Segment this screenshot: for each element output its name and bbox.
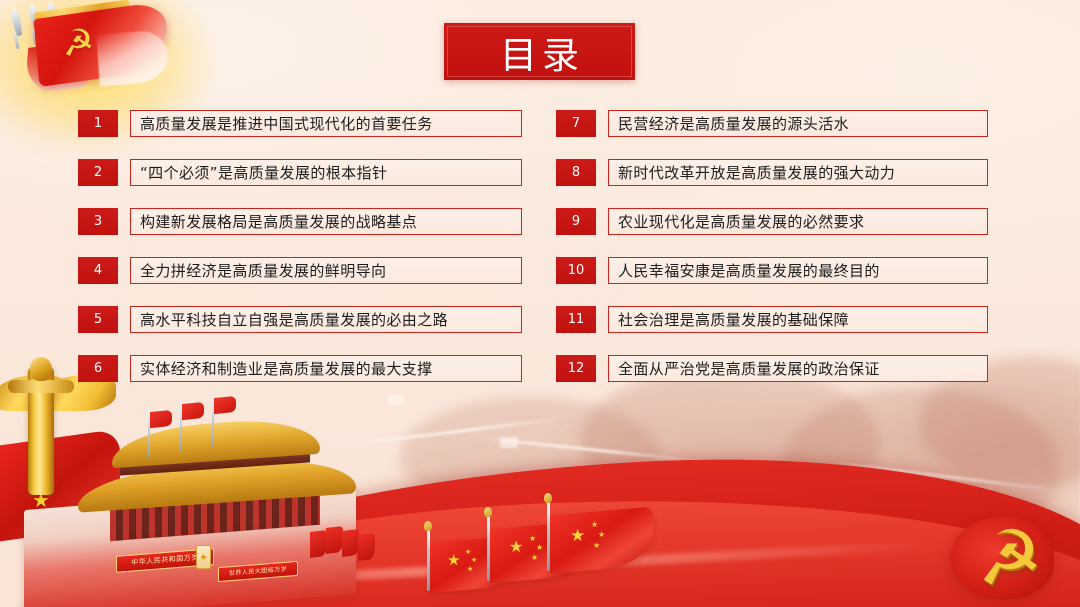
toc-left-column: 1 高质量发展是推进中国式现代化的首要任务 2 “四个必须”是高质量发展的根本指… — [78, 110, 548, 404]
toc-item-12[interactable]: 12 全面从严治党是高质量发展的政治保证 — [556, 355, 1026, 382]
toc-number-badge: 3 — [78, 208, 118, 235]
table-of-contents: 1 高质量发展是推进中国式现代化的首要任务 2 “四个必须”是高质量发展的根本指… — [0, 110, 1080, 410]
toc-item-9[interactable]: 9 农业现代化是高质量发展的必然要求 — [556, 208, 1026, 235]
toc-item-label: 高质量发展是推进中国式现代化的首要任务 — [140, 113, 433, 134]
toc-item-5[interactable]: 5 高水平科技自立自强是高质量发展的必由之路 — [78, 306, 548, 333]
toc-item-10[interactable]: 10 人民幸福安康是高质量发展的最终目的 — [556, 257, 1026, 284]
toc-item-label: 全面从严治党是高质量发展的政治保证 — [618, 358, 880, 379]
toc-item-box[interactable]: “四个必须”是高质量发展的根本指针 — [130, 159, 522, 186]
toc-item-2[interactable]: 2 “四个必须”是高质量发展的根本指针 — [78, 159, 548, 186]
toc-number-badge: 2 — [78, 159, 118, 186]
toc-item-box[interactable]: 社会治理是高质量发展的基础保障 — [608, 306, 988, 333]
toc-item-box[interactable]: 高质量发展是推进中国式现代化的首要任务 — [130, 110, 522, 137]
toc-item-1[interactable]: 1 高质量发展是推进中国式现代化的首要任务 — [78, 110, 548, 137]
toc-item-8[interactable]: 8 新时代改革开放是高质量发展的强大动力 — [556, 159, 1026, 186]
page-title: 目录 — [495, 25, 584, 79]
toc-item-11[interactable]: 11 社会治理是高质量发展的基础保障 — [556, 306, 1026, 333]
hammer-sickle-emblem-icon: ☭ — [56, 22, 100, 64]
party-flag-icon: ☭ — [6, 2, 181, 102]
toc-item-label: 新时代改革开放是高质量发展的强大动力 — [618, 162, 895, 183]
toc-item-4[interactable]: 4 全力拼经济是高质量发展的鲜明导向 — [78, 257, 548, 284]
toc-number-badge: 1 — [78, 110, 118, 137]
presentation-slide: ☭ ★ ★ ★ 中华人民共和国万岁 世界人民大团结万岁 — [0, 0, 1080, 607]
party-emblem-decoration: ☭ — [912, 509, 1072, 605]
china-flag-icon: ★ ★ ★ ★ ★ ★ ★ ★ ★ ★ ★ ★ — [405, 499, 645, 599]
hammer-sickle-icon: ☭ — [973, 519, 1044, 597]
toc-number-badge: 4 — [78, 257, 118, 284]
toc-item-label: 社会治理是高质量发展的基础保障 — [618, 309, 849, 330]
toc-item-box[interactable]: 人民幸福安康是高质量发展的最终目的 — [608, 257, 988, 284]
toc-number-badge: 7 — [556, 110, 596, 137]
toc-item-box[interactable]: 全力拼经济是高质量发展的鲜明导向 — [130, 257, 522, 284]
toc-item-box[interactable]: 新时代改革开放是高质量发展的强大动力 — [608, 159, 988, 186]
toc-number-badge: 6 — [78, 355, 118, 382]
toc-number-badge: 9 — [556, 208, 596, 235]
toc-item-box[interactable]: 实体经济和制造业是高质量发展的最大支撑 — [130, 355, 522, 382]
toc-item-label: 农业现代化是高质量发展的必然要求 — [618, 211, 864, 232]
toc-item-3[interactable]: 3 构建新发展格局是高质量发展的战略基点 — [78, 208, 548, 235]
toc-item-label: 民营经济是高质量发展的源头活水 — [618, 113, 849, 134]
toc-item-6[interactable]: 6 实体经济和制造业是高质量发展的最大支撑 — [78, 355, 548, 382]
toc-right-column: 7 民营经济是高质量发展的源头活水 8 新时代改革开放是高质量发展的强大动力 9… — [556, 110, 1026, 404]
slide-title-banner: 目录 — [444, 23, 635, 80]
toc-item-box[interactable]: 农业现代化是高质量发展的必然要求 — [608, 208, 988, 235]
toc-item-label: “四个必须”是高质量发展的根本指针 — [140, 162, 387, 183]
national-emblem-icon — [196, 545, 211, 569]
toc-item-box[interactable]: 全面从严治党是高质量发展的政治保证 — [608, 355, 988, 382]
toc-item-label: 高水平科技自立自强是高质量发展的必由之路 — [140, 309, 448, 330]
toc-item-label: 构建新发展格局是高质量发展的战略基点 — [140, 211, 417, 232]
toc-item-label: 人民幸福安康是高质量发展的最终目的 — [618, 260, 880, 281]
toc-item-box[interactable]: 高水平科技自立自强是高质量发展的必由之路 — [130, 306, 522, 333]
toc-item-box[interactable]: 构建新发展格局是高质量发展的战略基点 — [130, 208, 522, 235]
mini-flags-group — [310, 527, 386, 561]
toc-item-label: 全力拼经济是高质量发展的鲜明导向 — [140, 260, 386, 281]
toc-number-badge: 12 — [556, 355, 596, 382]
toc-item-box[interactable]: 民营经济是高质量发展的源头活水 — [608, 110, 988, 137]
toc-number-badge: 8 — [556, 159, 596, 186]
toc-item-7[interactable]: 7 民营经济是高质量发展的源头活水 — [556, 110, 1026, 137]
toc-number-badge: 11 — [556, 306, 596, 333]
toc-number-badge: 5 — [78, 306, 118, 333]
toc-number-badge: 10 — [556, 257, 596, 284]
toc-item-label: 实体经济和制造业是高质量发展的最大支撑 — [140, 358, 433, 379]
